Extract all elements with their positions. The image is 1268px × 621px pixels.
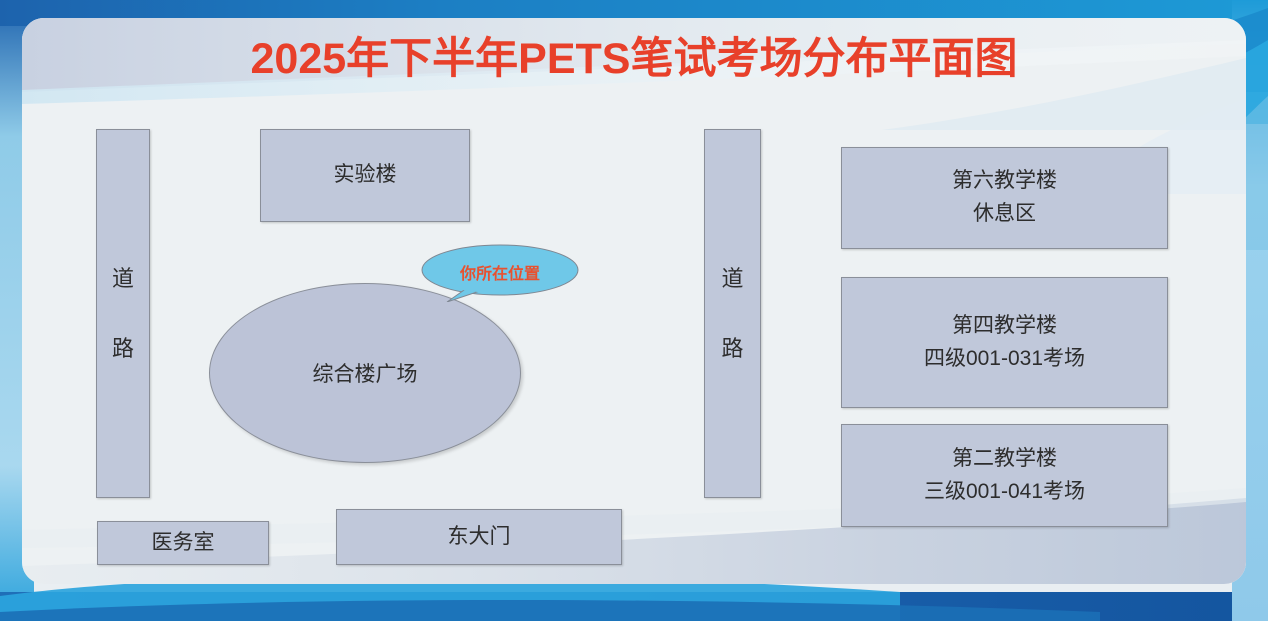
building-two-line1: 第二教学楼 [952, 443, 1057, 476]
clinic-label: 医务室 [152, 527, 215, 560]
building-six-block: 第六教学楼 休息区 [841, 147, 1168, 249]
road-left-line1: 道 [112, 268, 134, 290]
east-gate-label: 东大门 [448, 521, 511, 554]
building-four-line2: 四级001-031考场 [924, 343, 1085, 376]
road-right: 道 路 [704, 129, 761, 498]
callout-label: 你所在位置 [421, 260, 579, 284]
building-six-line2: 休息区 [973, 198, 1036, 231]
lab-building-label: 实验楼 [334, 159, 397, 192]
clinic-block: 医务室 [97, 521, 269, 565]
lab-building-block: 实验楼 [260, 129, 470, 222]
building-six-line1: 第六教学楼 [952, 165, 1057, 198]
building-four-block: 第四教学楼 四级001-031考场 [841, 277, 1168, 408]
plaza-ellipse: 综合楼广场 [209, 283, 521, 463]
east-gate-block: 东大门 [336, 509, 622, 565]
building-four-line1: 第四教学楼 [952, 310, 1057, 343]
road-left-line2: 路 [112, 338, 134, 360]
plaza-label: 综合楼广场 [313, 358, 418, 388]
poster-canvas: 2025年下半年PETS笔试考场分布平面图 道 路 实验楼 综合楼广场 你所在位… [0, 0, 1268, 621]
building-two-block: 第二教学楼 三级001-041考场 [841, 424, 1168, 527]
building-two-line2: 三级001-041考场 [924, 476, 1085, 509]
you-are-here-callout: 你所在位置 [421, 244, 579, 302]
road-left: 道 路 [96, 129, 150, 498]
road-right-line1: 道 [721, 268, 743, 290]
page-title: 2025年下半年PETS笔试考场分布平面图 [0, 36, 1268, 83]
road-right-line2: 路 [721, 338, 743, 360]
